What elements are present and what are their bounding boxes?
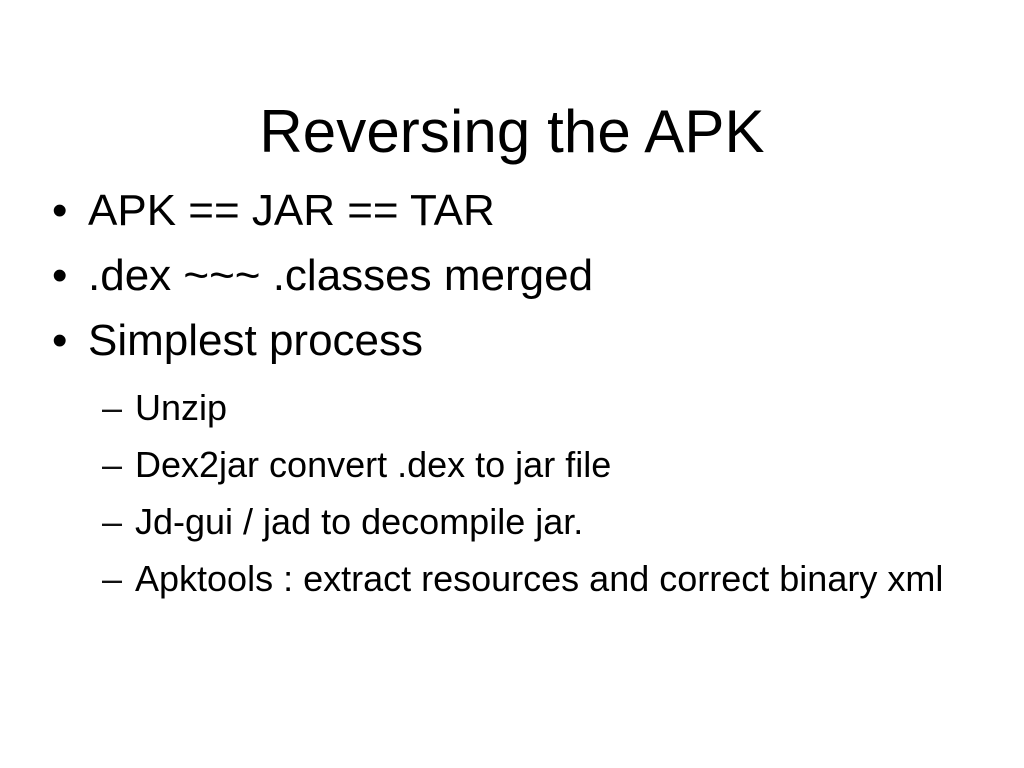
- sub-bullet-text: Apktools : extract resources and correct…: [135, 558, 943, 599]
- bullet-text: Simplest process: [88, 316, 423, 365]
- bullet-item: • APK == JAR == TAR: [0, 178, 1024, 243]
- sub-bullet-item: – Jd-gui / jad to decompile jar.: [0, 493, 1024, 550]
- dash-marker-icon: –: [102, 436, 128, 493]
- bullet-text: .dex ~~~ .classes merged: [88, 251, 593, 300]
- slide-body: • APK == JAR == TAR • .dex ~~~ .classes …: [0, 178, 1024, 607]
- dash-marker-icon: –: [102, 379, 128, 436]
- bullet-text: APK == JAR == TAR: [88, 186, 495, 235]
- sub-bullet-item: – Unzip: [0, 379, 1024, 436]
- sub-bullet-text: Unzip: [135, 387, 227, 428]
- sub-bullet-text: Dex2jar convert .dex to jar file: [135, 444, 611, 485]
- bullet-list-level1: • APK == JAR == TAR • .dex ~~~ .classes …: [0, 178, 1024, 373]
- bullet-marker-icon: •: [52, 178, 72, 243]
- bullet-marker-icon: •: [52, 308, 72, 373]
- bullet-marker-icon: •: [52, 243, 72, 308]
- presentation-slide: Reversing the APK • APK == JAR == TAR • …: [0, 0, 1024, 768]
- sub-bullet-item: – Apktools : extract resources and corre…: [0, 550, 1024, 607]
- bullet-item: • Simplest process: [0, 308, 1024, 373]
- sub-bullet-text: Jd-gui / jad to decompile jar.: [135, 501, 583, 542]
- bullet-item: • .dex ~~~ .classes merged: [0, 243, 1024, 308]
- slide-title: Reversing the APK: [0, 96, 1024, 168]
- dash-marker-icon: –: [102, 493, 128, 550]
- bullet-list-level2: – Unzip – Dex2jar convert .dex to jar fi…: [0, 379, 1024, 607]
- sub-bullet-item: – Dex2jar convert .dex to jar file: [0, 436, 1024, 493]
- dash-marker-icon: –: [102, 550, 128, 607]
